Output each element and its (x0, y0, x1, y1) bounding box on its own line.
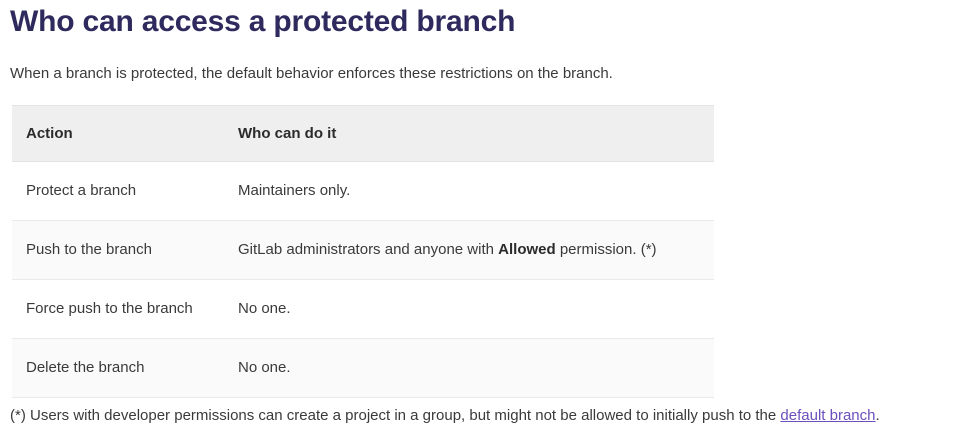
cell-action: Delete the branch (12, 339, 224, 398)
who-text-prefix: GitLab administrators and anyone with (238, 241, 498, 258)
default-branch-link[interactable]: default branch (780, 407, 875, 424)
who-text-prefix: No one. (238, 359, 291, 376)
cell-action: Push to the branch (12, 221, 224, 280)
cell-who: No one. (224, 280, 714, 339)
table-container: Action Who can do it Protect a branch Ma… (10, 105, 959, 398)
intro-paragraph: When a branch is protected, the default … (10, 40, 959, 84)
access-permissions-table: Action Who can do it Protect a branch Ma… (12, 105, 714, 398)
footnote-text: (*) Users with developer permissions can… (10, 407, 780, 424)
table-row: Protect a branch Maintainers only. (12, 162, 714, 221)
column-header-action: Action (12, 106, 224, 162)
table-row: Force push to the branch No one. (12, 280, 714, 339)
table-body: Protect a branch Maintainers only. Push … (12, 162, 714, 398)
cell-action: Force push to the branch (12, 280, 224, 339)
cell-who: GitLab administrators and anyone with Al… (224, 221, 714, 280)
footnote-suffix: . (875, 407, 879, 424)
who-text-prefix: Maintainers only. (238, 182, 350, 199)
column-header-who-can-do-it: Who can do it (224, 106, 714, 162)
cell-who: No one. (224, 339, 714, 398)
cell-who: Maintainers only. (224, 162, 714, 221)
documentation-page: Who can access a protected branch When a… (0, 0, 969, 437)
table-header-row: Action Who can do it (12, 106, 714, 162)
table-header: Action Who can do it (12, 106, 714, 162)
page-title: Who can access a protected branch (10, 0, 959, 40)
who-text-suffix: permission. (*) (556, 241, 657, 258)
cell-action: Protect a branch (12, 162, 224, 221)
table-row: Delete the branch No one. (12, 339, 714, 398)
table-row: Push to the branch GitLab administrators… (12, 221, 714, 280)
who-text-prefix: No one. (238, 300, 291, 317)
footnote: (*) Users with developer permissions can… (10, 406, 880, 426)
who-text-bold: Allowed (498, 241, 556, 258)
